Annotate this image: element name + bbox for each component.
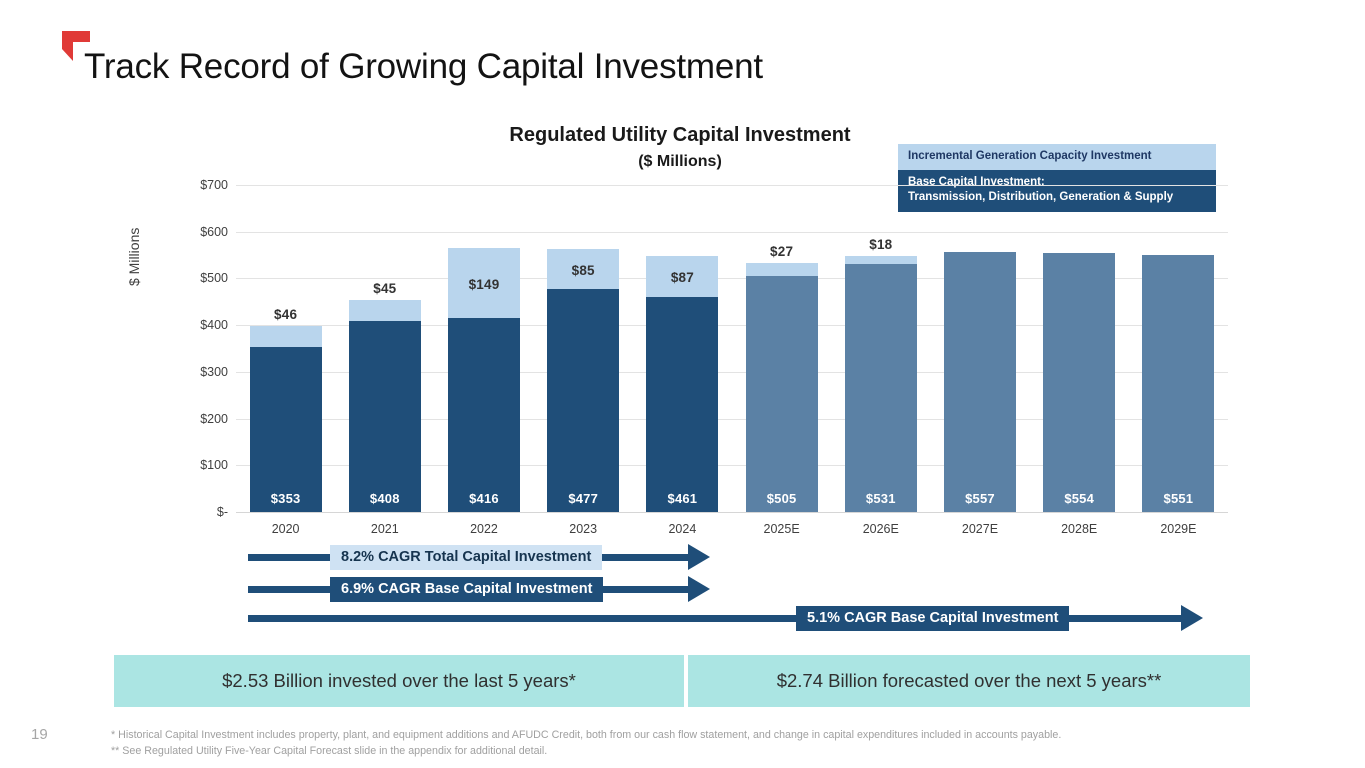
bar-segment-base[interactable]: $557 bbox=[944, 252, 1016, 512]
bar-label-incremental: $18 bbox=[845, 237, 917, 252]
bar-group[interactable]: $461$87 bbox=[646, 256, 718, 512]
x-axis-tick-labels: 202020212022202320242025E2026E2027E2028E… bbox=[236, 522, 1228, 542]
bar-label-base: $416 bbox=[448, 491, 520, 506]
bar-label-base: $408 bbox=[349, 491, 421, 506]
bar-group[interactable]: $408$45 bbox=[349, 300, 421, 512]
bar-segment-base[interactable]: $461 bbox=[646, 297, 718, 512]
x-axis-tick: 2024 bbox=[633, 522, 732, 536]
cagr-arrowhead bbox=[688, 544, 710, 570]
callout-invested: $2.53 Billion invested over the last 5 y… bbox=[114, 655, 684, 707]
y-axis-tick: $600 bbox=[200, 225, 228, 239]
bar-segment-base[interactable]: $554 bbox=[1043, 253, 1115, 512]
cagr-label-base-forecast: 5.1% CAGR Base Capital Investment bbox=[796, 606, 1069, 631]
x-axis-tick: 2029E bbox=[1129, 522, 1228, 536]
x-axis-tick: 2028E bbox=[1030, 522, 1129, 536]
x-axis-tick: 2027E bbox=[930, 522, 1029, 536]
bar-label-base: $554 bbox=[1043, 491, 1115, 506]
bar-label-base: $477 bbox=[547, 491, 619, 506]
bar-label-base: $505 bbox=[746, 491, 818, 506]
footnote-2: ** See Regulated Utility Five-Year Capit… bbox=[111, 744, 1291, 760]
bar-group[interactable]: $353$46 bbox=[250, 326, 322, 512]
footnotes: * Historical Capital Investment includes… bbox=[111, 728, 1291, 759]
bar-segment-base[interactable]: $505 bbox=[746, 276, 818, 512]
callout-forecasted-text: $2.74 Billion forecasted over the next 5… bbox=[777, 670, 1162, 692]
bar-label-base: $531 bbox=[845, 491, 917, 506]
cagr-arrow-base-forecast: 5.1% CAGR Base Capital Investment bbox=[248, 606, 1203, 631]
bar-label-base: $461 bbox=[646, 491, 718, 506]
bar-segment-incremental[interactable] bbox=[845, 256, 917, 264]
cagr-label-total: 8.2% CAGR Total Capital Investment bbox=[330, 545, 602, 570]
x-axis-tick: 2022 bbox=[434, 522, 533, 536]
callout-forecasted: $2.74 Billion forecasted over the next 5… bbox=[688, 655, 1250, 707]
cagr-label-base-historical: 6.9% CAGR Base Capital Investment bbox=[330, 577, 603, 602]
bar-group[interactable]: $557 bbox=[944, 252, 1016, 512]
bar-group[interactable]: $416$149 bbox=[448, 248, 520, 512]
cagr-arrow-base-historical: 6.9% CAGR Base Capital Investment bbox=[248, 577, 710, 602]
bar-group[interactable]: $477$85 bbox=[547, 249, 619, 512]
bar-label-incremental: $149 bbox=[448, 277, 520, 292]
chart-title: Regulated Utility Capital Investment bbox=[478, 124, 882, 147]
chart-subtitle: ($ Millions) bbox=[478, 153, 882, 171]
bar-label-incremental: $27 bbox=[746, 244, 818, 259]
cagr-arrowhead bbox=[688, 576, 710, 602]
y-axis-tick: $200 bbox=[200, 412, 228, 426]
x-axis-tick: 2020 bbox=[236, 522, 335, 536]
bar-segment-base[interactable]: $551 bbox=[1142, 255, 1214, 512]
bar-label-base: $353 bbox=[250, 491, 322, 506]
cagr-arrowhead bbox=[1181, 605, 1203, 631]
bar-group[interactable]: $554 bbox=[1043, 253, 1115, 512]
y-axis-title: $ Millions bbox=[126, 228, 142, 286]
bar-label-base: $557 bbox=[944, 491, 1016, 506]
cagr-arrow-total: 8.2% CAGR Total Capital Investment bbox=[248, 545, 710, 570]
y-axis-tick: $100 bbox=[200, 458, 228, 472]
footnote-1: * Historical Capital Investment includes… bbox=[111, 728, 1291, 744]
legend-item-incremental: Incremental Generation Capacity Investme… bbox=[898, 144, 1216, 170]
chart-bars: $353$46$408$45$416$149$477$85$461$87$505… bbox=[236, 185, 1228, 512]
bar-group[interactable]: $505$27 bbox=[746, 263, 818, 512]
page-number: 19 bbox=[31, 726, 48, 743]
y-axis-tick-labels: $-$100$200$300$400$500$600$700 bbox=[150, 177, 228, 520]
y-axis-tick: $700 bbox=[200, 178, 228, 192]
page-title: Track Record of Growing Capital Investme… bbox=[84, 47, 763, 87]
y-axis-tick: $400 bbox=[200, 318, 228, 332]
legend-incremental-label: Incremental Generation Capacity Investme… bbox=[908, 150, 1152, 162]
bar-segment-base[interactable]: $408 bbox=[349, 321, 421, 512]
y-axis-tick: $300 bbox=[200, 365, 228, 379]
x-axis-tick: 2025E bbox=[732, 522, 831, 536]
x-axis-tick: 2026E bbox=[831, 522, 930, 536]
y-axis-tick: $500 bbox=[200, 271, 228, 285]
bar-segment-incremental[interactable] bbox=[746, 263, 818, 276]
bar-label-incremental: $46 bbox=[250, 307, 322, 322]
chart-plot-area: $353$46$408$45$416$149$477$85$461$87$505… bbox=[236, 185, 1228, 512]
bar-segment-base[interactable]: $531 bbox=[845, 264, 917, 512]
gridline bbox=[236, 512, 1228, 513]
bar-group[interactable]: $531$18 bbox=[845, 256, 917, 512]
bar-segment-base[interactable]: $477 bbox=[547, 289, 619, 512]
bar-label-incremental: $45 bbox=[349, 281, 421, 296]
bar-segment-incremental[interactable] bbox=[250, 326, 322, 347]
bar-label-incremental: $85 bbox=[547, 263, 619, 278]
bar-group[interactable]: $551 bbox=[1142, 255, 1214, 512]
y-axis-tick: $- bbox=[217, 505, 228, 519]
callout-invested-text: $2.53 Billion invested over the last 5 y… bbox=[222, 670, 576, 692]
bar-segment-base[interactable]: $353 bbox=[250, 347, 322, 512]
bar-segment-incremental[interactable] bbox=[349, 300, 421, 321]
bar-label-base: $551 bbox=[1142, 491, 1214, 506]
bar-segment-base[interactable]: $416 bbox=[448, 318, 520, 512]
bar-label-incremental: $87 bbox=[646, 270, 718, 285]
x-axis-tick: 2023 bbox=[534, 522, 633, 536]
x-axis-tick: 2021 bbox=[335, 522, 434, 536]
slide: Track Record of Growing Capital Investme… bbox=[0, 0, 1365, 768]
